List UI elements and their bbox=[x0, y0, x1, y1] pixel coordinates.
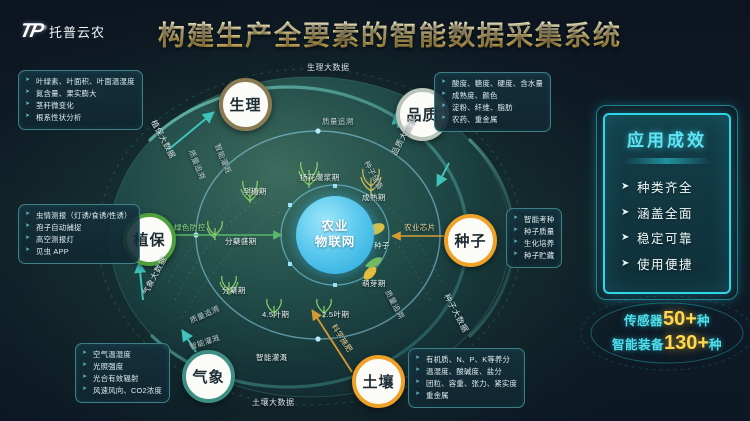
bigdata-label-plant-protection: 植保大数据 bbox=[148, 118, 178, 161]
hub-node-physiology[interactable]: 生理 bbox=[219, 78, 272, 131]
list-item: 团粒、容重、张力、紧实度 bbox=[415, 378, 517, 390]
stat-number: 50+ bbox=[663, 308, 697, 330]
list-item: 见虫 APP bbox=[25, 246, 132, 258]
list-item: 成熟度、颜色 bbox=[441, 90, 543, 102]
list-item: 光合有效辐射 bbox=[82, 373, 162, 385]
list-item: 孢子自动捕捉 bbox=[25, 222, 132, 234]
panel-divider bbox=[623, 158, 711, 164]
list-item: 根系性状分析 bbox=[25, 112, 135, 124]
core-iot-bubble[interactable]: 农业 物联网 bbox=[296, 196, 374, 274]
core-line-1: 农业 bbox=[321, 219, 348, 235]
page-title: 构建生产全要素的智能数据采集系统 bbox=[150, 14, 630, 53]
list-item: 高空测报灯 bbox=[25, 234, 132, 246]
benefits-panel: 应用成效 种类齐全 涵盖全面 稳定可靠 使用便捷 bbox=[603, 113, 731, 294]
benefit-item: 涵盖全面 bbox=[621, 202, 729, 228]
stage-label-leaf25: 2.5叶期 bbox=[322, 309, 349, 320]
list-item: 重金属 bbox=[415, 390, 517, 402]
hub-label-soil: 土壤 bbox=[362, 371, 394, 392]
core-line-2: 物联网 bbox=[315, 235, 356, 251]
benefit-item: 使用便捷 bbox=[621, 253, 729, 279]
stage-label-tillering-peak: 分蘖盛期 bbox=[225, 236, 257, 247]
brand-logo: TP® 托普云农 bbox=[20, 20, 105, 43]
flow-label-irrigation-left: 智能灌溉 bbox=[212, 142, 234, 175]
info-box-quality: 酸度、糖度、硬度、含水量 成熟度、颜色 淀粉、纤维、脂肪 农药、重金属 bbox=[434, 72, 551, 132]
flow-label-smart-irrigation: 智能灌溉 bbox=[256, 352, 288, 363]
stage-label-ripening: 成熟期 bbox=[362, 192, 386, 203]
hub-label-physiology: 生理 bbox=[229, 94, 261, 115]
flow-label-fertilize: 科学施肥 bbox=[329, 322, 355, 355]
flow-label-agri-chip: 农业芯片 bbox=[404, 222, 436, 233]
list-item: 风速风向、CO2浓度 bbox=[82, 385, 162, 397]
hub-node-weather[interactable]: 气象 bbox=[182, 350, 235, 403]
list-item: 虫情测报（灯诱/食诱/性诱） bbox=[25, 210, 132, 222]
stage-label-tillering: 分蘖期 bbox=[222, 285, 246, 296]
stat-label-pre: 传感器 bbox=[624, 314, 663, 328]
list-item: 空气温湿度 bbox=[82, 349, 162, 361]
list-item: 叶绿素、叶面积、叶面温湿度 bbox=[25, 76, 135, 88]
flow-label-green-control: 绿色防控 bbox=[174, 222, 206, 233]
info-box-plant-protection: 虫情测报（灯诱/食诱/性诱） 孢子自动捕捉 高空测报灯 见虫 APP bbox=[18, 204, 140, 264]
list-item: 生化培养 bbox=[513, 238, 554, 250]
bigdata-label-seed: 种子大数据 bbox=[441, 292, 471, 335]
flow-label-trace-top: 质量追溯 bbox=[322, 116, 354, 127]
info-box-seed: 智能考种 种子质量 生化培养 种子贮藏 bbox=[506, 208, 562, 268]
panel-heading: 应用成效 bbox=[605, 115, 729, 151]
info-box-weather: 空气温湿度 光照强度 光合有效辐射 风速风向、CO2浓度 bbox=[75, 343, 170, 403]
list-item: 酸度、糖度、硬度、含水量 bbox=[441, 78, 543, 90]
stat-label-post: 种 bbox=[697, 314, 710, 328]
stat-sensors: 传感器50+种 bbox=[592, 308, 742, 331]
info-box-soil: 有机质、N、P、K等养分 温湿度、酸碱度、盐分 团粒、容重、张力、紧实度 重金属 bbox=[408, 348, 525, 408]
list-item: 有机质、N、P、K等养分 bbox=[415, 354, 517, 366]
list-item: 种子质量 bbox=[513, 226, 554, 238]
info-box-physiology: 叶绿素、叶面积、叶面温湿度 氮含量、果实膨大 茎秆微变化 根系性状分析 bbox=[18, 70, 143, 130]
stats-group: 传感器50+种 智能装备130+种 bbox=[592, 306, 742, 364]
stage-label-seed: 种子 bbox=[374, 240, 390, 251]
list-item: 茎秆微变化 bbox=[25, 100, 135, 112]
hub-node-soil[interactable]: 土壤 bbox=[352, 355, 405, 408]
stage-label-leaf45: 4.5叶期 bbox=[262, 309, 289, 320]
flow-label-seed-reserve: 种子储备 bbox=[361, 159, 386, 192]
benefit-item: 种类齐全 bbox=[621, 176, 729, 202]
stat-label-post: 种 bbox=[709, 338, 722, 352]
stat-number: 130+ bbox=[664, 332, 709, 354]
brand-name: 托普云农 bbox=[49, 22, 105, 41]
list-item: 淀粉、纤维、脂肪 bbox=[441, 102, 543, 114]
flow-label-trace-left: 质量追溯 bbox=[186, 148, 208, 181]
list-item: 农药、重金属 bbox=[441, 114, 543, 126]
list-item: 光照强度 bbox=[82, 361, 162, 373]
stage-label-booting: 孕穗期 bbox=[243, 186, 267, 197]
stat-devices: 智能装备130+种 bbox=[592, 332, 742, 355]
flow-label-trace-bottom-right: 质量追溯 bbox=[382, 288, 407, 321]
registered-mark: ® bbox=[42, 25, 46, 31]
hub-label-weather: 气象 bbox=[192, 366, 224, 387]
list-item: 智能考种 bbox=[513, 214, 554, 226]
stage-label-flowering: 扬花灌浆期 bbox=[300, 172, 339, 183]
stage-label-germination: 萌芽期 bbox=[362, 278, 386, 289]
list-item: 氮含量、果实膨大 bbox=[25, 88, 135, 100]
slide-canvas: TP® 托普云农 构建生产全要素的智能数据采集系统 生理 品质 种子 土壤 气象… bbox=[0, 0, 750, 421]
logo-mark-icon: TP® bbox=[18, 20, 47, 43]
hub-node-seed[interactable]: 种子 bbox=[444, 214, 497, 267]
list-item: 种子贮藏 bbox=[513, 250, 554, 262]
stat-label-pre: 智能装备 bbox=[612, 338, 664, 352]
flow-label-trace-bottom-left: 质量追溯 bbox=[188, 303, 221, 326]
bigdata-label-physiology: 生理大数据 bbox=[307, 62, 350, 73]
list-item: 温湿度、酸碱度、盐分 bbox=[415, 366, 517, 378]
bigdata-label-soil: 土壤大数据 bbox=[252, 397, 295, 408]
benefit-item: 稳定可靠 bbox=[621, 227, 729, 253]
hub-label-seed: 种子 bbox=[454, 230, 486, 251]
